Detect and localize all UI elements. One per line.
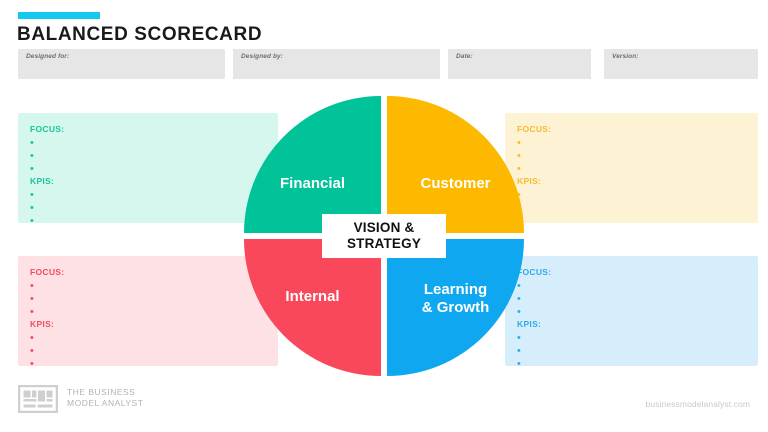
page-title: BALANCED SCORECARD: [17, 24, 262, 46]
brand-name-line2: MODEL ANALYST: [67, 398, 143, 409]
title-accent-bar: [18, 12, 100, 19]
field-designed-by[interactable]: Designed by:: [233, 49, 440, 79]
wheel-quadrant-internal[interactable]: [244, 239, 381, 376]
panel-financial-kpis-bullets[interactable]: • • •: [30, 189, 34, 228]
wheel-label-financial: Financial: [244, 175, 381, 193]
panel-internal-kpis-label: KPIS:: [30, 319, 54, 329]
field-label-designed-for: Designed for:: [26, 53, 69, 60]
panel-financial-focus-label: FOCUS:: [30, 124, 64, 134]
site-url[interactable]: businessmodelanalyst.com: [646, 399, 750, 409]
bullet-item: •: [30, 189, 34, 202]
bullet-item: •: [30, 202, 34, 215]
panel-internal-focus-label: FOCUS:: [30, 267, 64, 277]
wheel-label-learning-growth: Learning & Growth: [387, 281, 524, 317]
wheel-quadrant-customer[interactable]: [387, 96, 524, 233]
panel-financial-kpis-label: KPIS:: [30, 176, 54, 186]
brand-name: THE BUSINESS MODEL ANALYST: [67, 387, 143, 409]
scorecard-wheel: Financial Customer Internal Learning & G…: [244, 96, 524, 376]
panel-financial-focus-bullets[interactable]: • • •: [30, 137, 34, 176]
field-label-designed-by: Designed by:: [241, 53, 283, 60]
bullet-item: •: [30, 345, 34, 358]
wheel-label-learning-line2: & Growth: [387, 299, 524, 317]
bullet-item: •: [30, 306, 34, 319]
bullet-item: •: [30, 137, 34, 150]
field-date[interactable]: Date:: [448, 49, 591, 79]
bullet-item: •: [30, 332, 34, 345]
panel-internal-kpis-bullets[interactable]: • • •: [30, 332, 34, 371]
bullet-item: •: [30, 280, 34, 293]
bullet-item: •: [30, 293, 34, 306]
brand-name-line1: THE BUSINESS: [67, 387, 143, 398]
bullet-item: •: [30, 358, 34, 371]
field-version[interactable]: Version:: [604, 49, 758, 79]
panel-internal[interactable]: FOCUS: • • • KPIS: • • •: [18, 256, 278, 366]
vision-strategy-line2: STRATEGY: [347, 236, 421, 252]
field-designed-for[interactable]: Designed for:: [18, 49, 225, 79]
panel-financial[interactable]: FOCUS: • • • KPIS: • • •: [18, 113, 278, 223]
wheel-label-customer: Customer: [387, 175, 524, 193]
field-label-version: Version:: [612, 53, 639, 60]
panel-learning-growth[interactable]: FOCUS: • • • KPIS: • • •: [505, 256, 758, 366]
bullet-item: •: [30, 163, 34, 176]
bullet-item: •: [30, 215, 34, 228]
wheel-quadrant-financial[interactable]: [244, 96, 381, 233]
brand-logo-icon: [18, 385, 58, 413]
bullet-item: •: [30, 150, 34, 163]
vision-strategy-badge: VISION & STRATEGY: [322, 214, 446, 258]
panel-customer[interactable]: FOCUS: • • • KPIS: • • •: [505, 113, 758, 223]
wheel-label-internal: Internal: [244, 288, 381, 306]
field-label-date: Date:: [456, 53, 473, 60]
vision-strategy-line1: VISION &: [354, 220, 415, 236]
balanced-scorecard-canvas: BALANCED SCORECARD Designed for: Designe…: [0, 0, 768, 432]
wheel-label-learning-line1: Learning: [387, 281, 524, 299]
panel-internal-focus-bullets[interactable]: • • •: [30, 280, 34, 319]
